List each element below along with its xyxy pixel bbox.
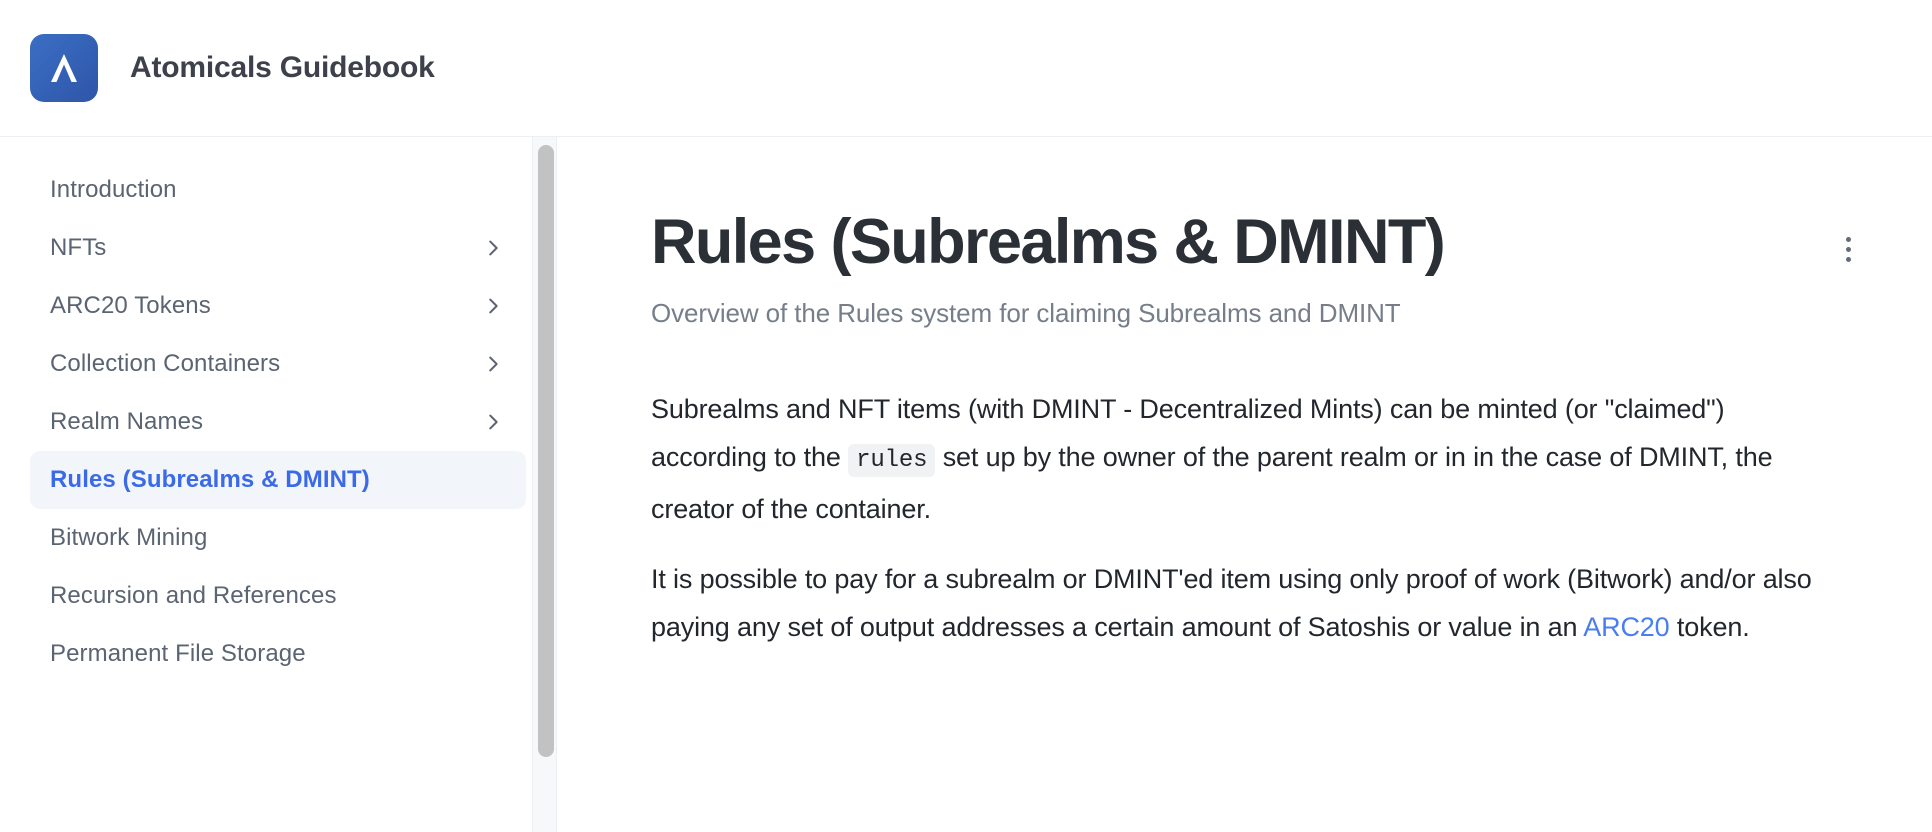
sidebar-item-rules-subrealms-dmint[interactable]: Rules (Subrealms & DMINT) xyxy=(30,451,526,509)
inline-code-rules: rules xyxy=(848,444,935,477)
kebab-dot xyxy=(1846,257,1851,262)
sidebar-scrollbar-thumb[interactable] xyxy=(538,145,554,757)
sidebar-item-nfts[interactable]: NFTs xyxy=(30,219,526,277)
chevron-right-icon[interactable] xyxy=(482,237,504,259)
sidebar-item-bitwork-mining[interactable]: Bitwork Mining xyxy=(30,509,526,567)
atomicals-logo-icon[interactable] xyxy=(30,34,98,102)
content-title-row: Rules (Subrealms & DMINT) xyxy=(651,137,1868,278)
page-title: Rules (Subrealms & DMINT) xyxy=(651,207,1444,278)
kebab-menu-icon[interactable] xyxy=(1830,231,1866,267)
sidebar-item-arc20-tokens[interactable]: ARC20 Tokens xyxy=(30,277,526,335)
arc20-link[interactable]: ARC20 xyxy=(1583,612,1669,642)
sidebar-nav: Introduction NFTs ARC20 Tokens Collectio… xyxy=(0,137,556,832)
sidebar-item-label: NFTs xyxy=(50,234,106,262)
brand-title: Atomicals Guidebook xyxy=(130,51,435,85)
sidebar-item-introduction[interactable]: Introduction xyxy=(30,161,526,219)
sidebar-item-recursion-and-references[interactable]: Recursion and References xyxy=(30,567,526,625)
kebab-dot xyxy=(1846,237,1851,242)
app-root: Atomicals Guidebook Introduction NFTs AR… xyxy=(0,0,1932,832)
page-subtitle: Overview of the Rules system for claimin… xyxy=(651,298,1868,329)
sidebar-item-list: Introduction NFTs ARC20 Tokens Collectio… xyxy=(0,161,556,683)
chevron-right-icon[interactable] xyxy=(482,295,504,317)
sidebar-scrollbar-track[interactable] xyxy=(532,137,556,832)
sidebar-item-collection-containers[interactable]: Collection Containers xyxy=(30,335,526,393)
app-header: Atomicals Guidebook xyxy=(0,0,1932,137)
body-wrapper: Introduction NFTs ARC20 Tokens Collectio… xyxy=(0,137,1932,832)
sidebar-item-label: ARC20 Tokens xyxy=(50,292,211,320)
sidebar-item-label: Bitwork Mining xyxy=(50,524,207,552)
sidebar-item-label: Recursion and References xyxy=(50,582,337,610)
chevron-right-icon[interactable] xyxy=(482,353,504,375)
paragraph-2: It is possible to pay for a subrealm or … xyxy=(651,555,1841,651)
sidebar-item-realm-names[interactable]: Realm Names xyxy=(30,393,526,451)
kebab-dot xyxy=(1846,247,1851,252)
sidebar-item-label: Rules (Subrealms & DMINT) xyxy=(50,466,370,494)
chevron-right-icon[interactable] xyxy=(482,411,504,433)
article-body: Subrealms and NFT items (with DMINT - De… xyxy=(651,385,1841,651)
sidebar-item-label: Collection Containers xyxy=(50,350,280,378)
paragraph-2-text-after: token. xyxy=(1670,612,1750,642)
sidebar-item-label: Realm Names xyxy=(50,408,203,436)
paragraph-1: Subrealms and NFT items (with DMINT - De… xyxy=(651,385,1841,533)
sidebar-item-permanent-file-storage[interactable]: Permanent File Storage xyxy=(30,625,526,683)
sidebar-item-label: Introduction xyxy=(50,176,177,204)
sidebar-item-label: Permanent File Storage xyxy=(50,640,306,668)
main-content: Rules (Subrealms & DMINT) Overview of th… xyxy=(557,137,1932,832)
